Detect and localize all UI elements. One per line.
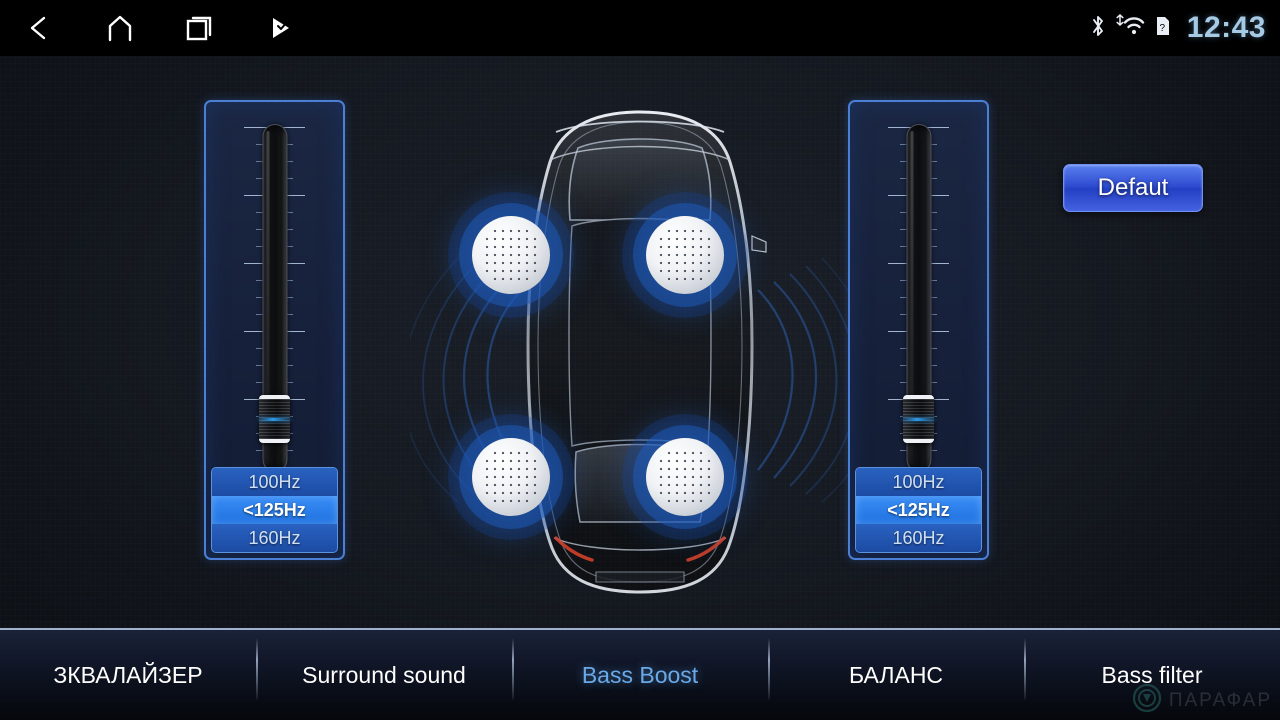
sdcard-icon: ? <box>1155 15 1171 42</box>
tab-surround-sound-label: Surround sound <box>302 662 466 689</box>
bottom-tab-bar: ЗКВАЛАЙЗЕР Surround sound Bass Boost БАЛ… <box>0 628 1280 720</box>
back-icon[interactable] <box>0 0 80 56</box>
rear-slider-thumb[interactable] <box>903 395 934 443</box>
tab-balance[interactable]: БАЛАНС <box>768 630 1024 720</box>
main-content: 100Hz <125Hz 160Hz 100Hz <125Hz 160Hz De <box>0 56 1280 628</box>
front-freq-option-2[interactable]: 160Hz <box>212 524 337 552</box>
status-indicators: ? 12:43 <box>1089 0 1266 56</box>
front-freq-option-0[interactable]: 100Hz <box>212 468 337 496</box>
status-bar: ? 12:43 <box>0 0 1280 56</box>
tab-equalizer-label: ЗКВАЛАЙЗЕР <box>53 662 202 689</box>
rear-slider-track[interactable] <box>906 124 931 472</box>
front-frequency-selector[interactable]: 100Hz <125Hz 160Hz <box>211 467 338 553</box>
front-slider-track[interactable] <box>262 124 287 472</box>
wifi-icon <box>1116 14 1146 43</box>
speaker-rear-left[interactable] <box>472 438 550 516</box>
car-diagram <box>410 86 870 626</box>
default-button-label: Defaut <box>1098 174 1169 202</box>
rear-freq-option-2[interactable]: 160Hz <box>856 524 981 552</box>
front-bass-slider[interactable] <box>206 102 343 492</box>
clock: 12:43 <box>1187 11 1266 45</box>
car-illustration-svg <box>410 86 870 626</box>
watermark: ПАРАФАР <box>1132 683 1272 718</box>
svg-text:?: ? <box>1159 23 1165 34</box>
recents-icon[interactable] <box>160 0 240 56</box>
front-freq-option-1[interactable]: <125Hz <box>212 496 337 524</box>
home-icon[interactable] <box>80 0 160 56</box>
tab-surround-sound[interactable]: Surround sound <box>256 630 512 720</box>
rear-freq-option-1[interactable]: <125Hz <box>856 496 981 524</box>
bluetooth-icon <box>1089 13 1107 44</box>
speaker-front-left[interactable] <box>472 216 550 294</box>
rear-frequency-selector[interactable]: 100Hz <125Hz 160Hz <box>855 467 982 553</box>
watermark-text: ПАРАФАР <box>1169 690 1272 712</box>
speaker-rear-right[interactable] <box>646 438 724 516</box>
rear-bass-slider[interactable] <box>850 102 987 492</box>
tab-balance-label: БАЛАНС <box>849 662 943 689</box>
tab-bass-boost[interactable]: Bass Boost <box>512 630 768 720</box>
tab-equalizer[interactable]: ЗКВАЛАЙЗЕР <box>0 630 256 720</box>
front-slider-thumb[interactable] <box>259 395 290 443</box>
rear-freq-option-0[interactable]: 100Hz <box>856 468 981 496</box>
parafar-logo-icon <box>1132 683 1162 718</box>
front-bass-panel: 100Hz <125Hz 160Hz <box>204 100 345 560</box>
speaker-front-right[interactable] <box>646 216 724 294</box>
head-unit-screen: ? 12:43 <box>0 0 1280 720</box>
rear-bass-panel: 100Hz <125Hz 160Hz <box>848 100 989 560</box>
tab-bass-boost-label: Bass Boost <box>582 662 698 689</box>
default-button[interactable]: Defaut <box>1063 164 1203 212</box>
flag-icon[interactable] <box>240 0 320 56</box>
